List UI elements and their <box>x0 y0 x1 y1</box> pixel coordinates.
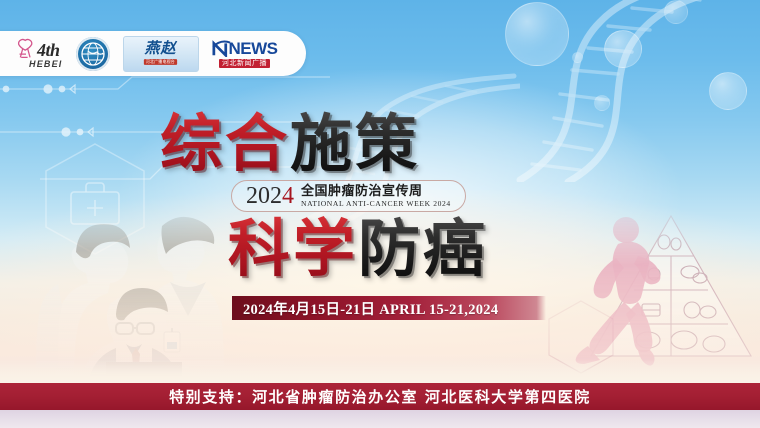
bubble-icon <box>709 72 747 110</box>
globe-health-emblem-icon <box>76 37 110 71</box>
bottom-light-band <box>0 360 760 383</box>
bottom-gradient-strip <box>0 410 760 428</box>
logo-region-label: HEBEI <box>29 60 63 69</box>
date-banner-text: 2024年4月15日-21日 APRIL 15-21,2024 <box>232 298 498 319</box>
logo-yanzhao-subtitle: 河北广播电视台 <box>144 59 177 65</box>
date-banner: 2024年4月15日-21日 APRIL 15-21,2024 <box>232 296 546 320</box>
bubble-icon <box>572 52 583 63</box>
headline-line-1: 综合施策 <box>160 113 420 175</box>
food-pyramid-icon <box>591 216 751 356</box>
bubble-icon <box>664 0 688 24</box>
logo-news-wordmark: NEWS <box>229 40 278 57</box>
headline2-dark-text: 防癌 <box>358 212 488 285</box>
campaign-title-pill: 2024 全国肿瘤防治宣传周 NATIONAL ANTI-CANCER WEEK… <box>231 180 466 212</box>
bubble-icon <box>594 95 610 111</box>
ribbon-icon <box>16 38 36 59</box>
headline2-red-text: 科学 <box>228 212 358 285</box>
health-illustration <box>566 198 760 388</box>
logo-ordinal: 4th <box>37 41 60 59</box>
logo-4th-hebei: 4th HEBEI <box>16 38 63 69</box>
logo-yanzhao-title: 燕赵 <box>145 42 177 57</box>
doctors-illustration <box>10 196 240 376</box>
support-bar: 特别支持：河北省肿瘤防治办公室 河北医科大学第四医院 <box>0 383 760 410</box>
headline1-dark-text: 施策 <box>290 107 420 180</box>
campaign-title-text: 全国肿瘤防治宣传周 NATIONAL ANTI-CANCER WEEK 2024 <box>301 185 451 208</box>
headline1-red-text: 综合 <box>160 107 290 180</box>
campaign-year-accent: 4 <box>282 183 294 209</box>
medical-kit-icon <box>71 183 119 224</box>
poster-root: 4th HEBEI 燕赵 河北广播电视台 <box>0 0 760 428</box>
hexagon-outline-icon <box>40 140 150 260</box>
logo-hebei-news-radio: NEWS 河北新闻广播 <box>212 40 278 68</box>
headline-line-2: 科学防癌 <box>228 218 488 280</box>
campaign-year-prefix: 202 <box>246 183 282 209</box>
logo-health-emblem <box>76 37 110 71</box>
campaign-title-en: NATIONAL ANTI-CANCER WEEK 2024 <box>301 200 451 208</box>
sponsor-logo-bar: 4th HEBEI 燕赵 河北广播电视台 <box>0 31 306 76</box>
globe-icon <box>80 41 106 67</box>
logo-yanzhao: 燕赵 河北广播电视台 <box>123 36 199 72</box>
dna-helix-icon <box>480 0 760 182</box>
hexagon-outline-icon <box>546 298 616 376</box>
campaign-year: 2024 <box>246 184 294 208</box>
bubble-icon <box>604 30 642 68</box>
bubble-icon <box>505 2 569 66</box>
support-bar-text: 特别支持：河北省肿瘤防治办公室 河北医科大学第四医院 <box>169 386 591 407</box>
logo-news-subtitle: 河北新闻广播 <box>219 59 270 68</box>
campaign-title-cn: 全国肿瘤防治宣传周 <box>301 185 451 198</box>
running-person-icon <box>576 217 661 366</box>
